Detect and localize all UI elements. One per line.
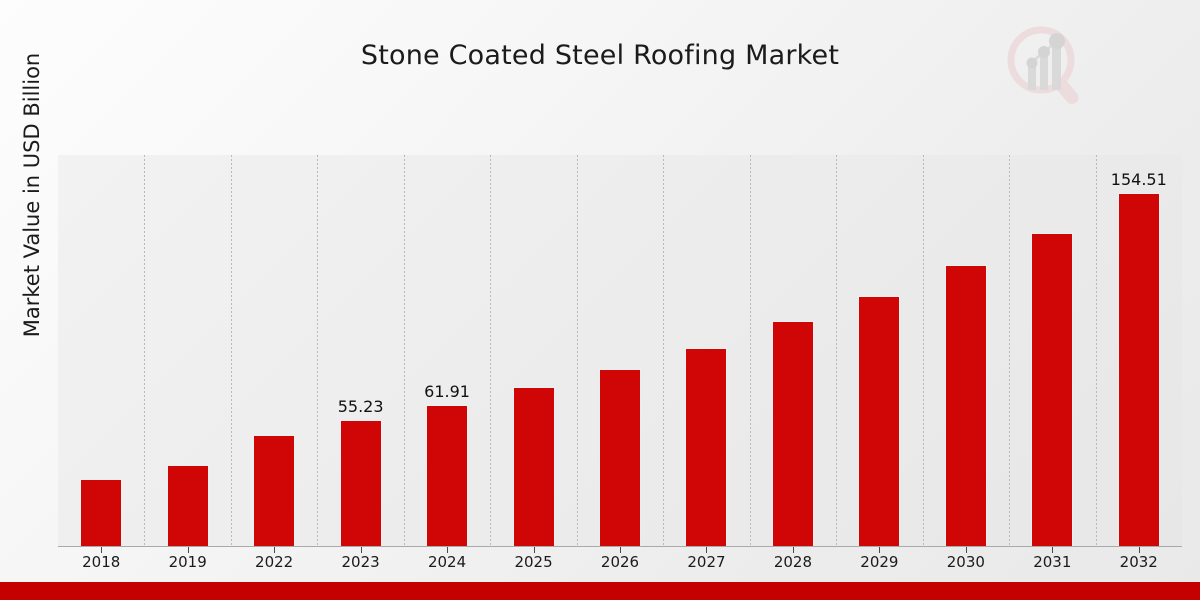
bar-2030[interactable] bbox=[945, 265, 987, 547]
bottom-accent-strip bbox=[0, 582, 1200, 600]
bar-2023[interactable] bbox=[340, 420, 382, 547]
bar-2024[interactable] bbox=[426, 405, 468, 547]
bar-series: 55.2361.91154.51 bbox=[58, 155, 1182, 547]
x-tick-label-2030: 2030 bbox=[947, 553, 985, 571]
x-tick-label-2031: 2031 bbox=[1033, 553, 1071, 571]
x-tick-label-2025: 2025 bbox=[514, 553, 552, 571]
bar-2022[interactable] bbox=[253, 435, 295, 547]
x-tick-label-2026: 2026 bbox=[601, 553, 639, 571]
x-tick-label-2028: 2028 bbox=[774, 553, 812, 571]
bar-2019[interactable] bbox=[167, 465, 209, 547]
bar-2029[interactable] bbox=[858, 296, 900, 547]
bar-2025[interactable] bbox=[513, 387, 555, 547]
bar-2032[interactable] bbox=[1118, 193, 1160, 547]
bar-value-label-2023: 55.23 bbox=[338, 397, 384, 416]
bar-2028[interactable] bbox=[772, 321, 814, 547]
bar-2018[interactable] bbox=[80, 479, 122, 547]
y-axis-label: Market Value in USD Billion bbox=[20, 0, 44, 395]
x-tick-label-2024: 2024 bbox=[428, 553, 466, 571]
bar-2031[interactable] bbox=[1031, 233, 1073, 547]
x-tick-label-2029: 2029 bbox=[860, 553, 898, 571]
page-title: Stone Coated Steel Roofing Market bbox=[0, 40, 1200, 71]
plot-area: 55.2361.91154.51 bbox=[58, 155, 1182, 547]
x-tick-label-2032: 2032 bbox=[1120, 553, 1158, 571]
x-tick-label-2022: 2022 bbox=[255, 553, 293, 571]
bar-value-label-2024: 61.91 bbox=[424, 382, 470, 401]
bar-2027[interactable] bbox=[685, 348, 727, 547]
x-tick-label-2027: 2027 bbox=[687, 553, 725, 571]
x-tick-label-2023: 2023 bbox=[342, 553, 380, 571]
bar-2026[interactable] bbox=[599, 369, 641, 547]
x-tick-label-2019: 2019 bbox=[169, 553, 207, 571]
bar-value-label-2032: 154.51 bbox=[1111, 170, 1167, 189]
chart-page: Stone Coated Steel Roofing Market Market… bbox=[0, 0, 1200, 600]
x-tick-label-2018: 2018 bbox=[82, 553, 120, 571]
